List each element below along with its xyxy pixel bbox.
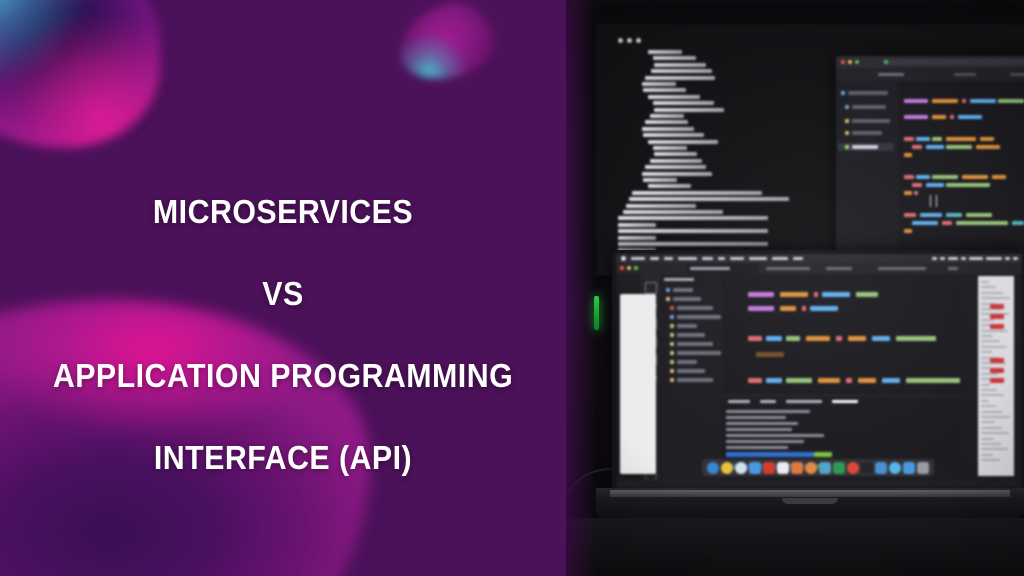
- code-token: [920, 213, 942, 217]
- minimap-line: [981, 297, 1010, 299]
- wifi-icon: [969, 257, 983, 260]
- terminal-output-line: [726, 416, 786, 419]
- file-type-icon: [670, 333, 674, 337]
- code-token: [962, 175, 988, 179]
- explorer-file-row[interactable]: [677, 342, 713, 346]
- trash-icon[interactable]: [917, 462, 929, 474]
- code-token: [748, 378, 762, 383]
- code-token: [806, 336, 830, 341]
- minimap-marker[interactable]: [990, 378, 1004, 383]
- code-token: [932, 115, 946, 119]
- explorer-file-row[interactable]: [677, 333, 705, 337]
- code-token: [780, 292, 808, 297]
- code-token: [748, 306, 774, 311]
- chrome-icon[interactable]: [889, 462, 901, 474]
- minimap-line: [981, 351, 992, 353]
- preview-icon[interactable]: [903, 462, 915, 474]
- menu-window[interactable]: [772, 257, 788, 260]
- vscode-statusbar[interactable]: [616, 480, 1022, 488]
- code-token: [748, 336, 762, 341]
- code-token: [766, 378, 782, 383]
- file-type-icon: [666, 288, 670, 292]
- file-type-icon: [670, 306, 674, 310]
- code-token: [916, 175, 930, 179]
- explorer-file-row[interactable]: [677, 378, 713, 382]
- messages-icon[interactable]: [791, 462, 803, 474]
- blob-top-left-icon: [0, 0, 160, 148]
- terminal-output-line: [726, 434, 824, 437]
- minimap-line: [981, 335, 993, 337]
- laptop-base: [596, 488, 1024, 518]
- file-type-icon: [670, 360, 674, 364]
- window-traffic-lights-icon[interactable]: [620, 266, 638, 270]
- menu-code[interactable]: [631, 257, 645, 260]
- terminal-line: [648, 50, 682, 54]
- code-token: [958, 115, 982, 119]
- page-title: MICROSERVICES VS APPLICATION PROGRAMMING…: [23, 150, 544, 519]
- menubar-status-items[interactable]: [932, 257, 1018, 260]
- menu-view[interactable]: [702, 257, 713, 260]
- code-token: [962, 99, 966, 103]
- terminal-selection: [726, 452, 814, 457]
- explorer-file-row[interactable]: [677, 351, 721, 355]
- code-token: [858, 378, 876, 383]
- file-type-icon: [670, 342, 674, 346]
- minimap-line: [981, 346, 1007, 348]
- menu-edit[interactable]: [664, 257, 673, 260]
- terminal-output-line: [726, 410, 810, 413]
- code-token: [916, 137, 930, 141]
- minimap-line: [981, 411, 1003, 413]
- minimap-line: [981, 400, 989, 402]
- code-token: [1012, 221, 1024, 225]
- code-token: [946, 137, 976, 141]
- headline-line-1: MICROSERVICES: [30, 191, 536, 232]
- code-token: [942, 221, 952, 225]
- terminal-line: [618, 236, 656, 240]
- vscode-icon[interactable]: [875, 462, 887, 474]
- code-token: [904, 115, 928, 119]
- terminal-line: [643, 178, 677, 182]
- code-token: [802, 306, 806, 311]
- code-token: [786, 336, 800, 341]
- vscode-tabbar[interactable]: [616, 263, 1022, 274]
- minimap-marker[interactable]: [990, 358, 1004, 363]
- menu-help[interactable]: [793, 257, 803, 260]
- terminal-line: [645, 120, 688, 124]
- explorer-file-row[interactable]: [677, 315, 721, 319]
- finder-icon[interactable]: [707, 462, 719, 474]
- code-token: [932, 175, 958, 179]
- terminal-line: [648, 140, 718, 144]
- minimap-line: [981, 292, 1003, 294]
- explorer-file-row[interactable]: [677, 369, 705, 373]
- code-token: [872, 336, 890, 341]
- terminal-success-text: [814, 452, 832, 457]
- vscode-explorer[interactable]: [660, 274, 722, 488]
- minimap-line: [981, 330, 1008, 332]
- panel-tab[interactable]: [760, 400, 776, 403]
- safari-icon[interactable]: [735, 462, 747, 474]
- code-token: [814, 292, 818, 297]
- terminal-line: [648, 184, 691, 188]
- adobe-icon[interactable]: [763, 462, 775, 474]
- explorer-file-row[interactable]: [677, 360, 697, 364]
- file-type-icon: [670, 324, 674, 328]
- code-token: [904, 137, 914, 141]
- code-token: [998, 99, 1024, 103]
- terminal-line: [645, 165, 706, 169]
- minimap-line: [981, 389, 997, 391]
- green-led-strip: [594, 296, 599, 330]
- status-icon-3: [948, 257, 958, 260]
- editor-file-explorer[interactable]: [836, 81, 898, 262]
- text-cursor-icon: [930, 195, 937, 207]
- code-token: [970, 99, 996, 103]
- minimap-line: [981, 416, 1010, 418]
- code-token: [976, 145, 1000, 149]
- terminal-line: [648, 95, 700, 99]
- external-monitor: [586, 8, 1024, 276]
- minimap-line: [981, 454, 993, 456]
- terminal-line: [618, 216, 768, 220]
- code-token: [882, 378, 900, 383]
- slide-canvas: MICROSERVICES VS APPLICATION PROGRAMMING…: [0, 0, 1024, 576]
- laptop: [596, 250, 1024, 576]
- code-token: [946, 145, 972, 149]
- terminal-line: [643, 133, 704, 137]
- terminal-line: [626, 204, 696, 208]
- explorer-file-row[interactable]: [673, 297, 701, 301]
- minimap-line: [981, 438, 994, 440]
- laptop-trackpad-notch: [782, 498, 838, 504]
- code-token: [756, 352, 784, 357]
- code-token: [904, 229, 912, 233]
- terminal-line: [650, 159, 702, 163]
- terminal-line: [618, 242, 768, 246]
- code-token: [914, 191, 918, 195]
- terminal-line: [653, 101, 714, 105]
- code-token: [896, 336, 936, 341]
- terminal-line: [651, 69, 712, 73]
- vscode-minimap[interactable]: [978, 276, 1014, 476]
- panel-tab[interactable]: [832, 400, 858, 403]
- keynote-icon[interactable]: [819, 462, 831, 474]
- terminal-line: [653, 146, 687, 150]
- code-token: [932, 137, 942, 141]
- monitor-terminal-window: [618, 38, 808, 268]
- control-center-icon: [1013, 257, 1018, 260]
- code-token: [904, 99, 928, 103]
- terminal-line: [642, 172, 712, 176]
- terminal-line: [645, 76, 715, 80]
- code-token: [818, 378, 840, 383]
- menu-terminal[interactable]: [749, 257, 767, 260]
- minimap-line: [981, 319, 994, 321]
- terminal-line: [653, 56, 696, 60]
- minimap-line: [981, 432, 1009, 434]
- minimap-line: [981, 427, 1002, 429]
- terminal-line: [654, 108, 724, 112]
- clock-text: [986, 257, 1002, 260]
- code-token: [912, 221, 938, 225]
- code-token: [848, 336, 866, 341]
- terminal-icon[interactable]: [861, 462, 873, 474]
- macos-menubar[interactable]: [616, 254, 1022, 263]
- terminal-line: [618, 229, 768, 233]
- headline-line-4: INTERFACE (API): [30, 437, 536, 478]
- monitor-editor-window: [836, 56, 1024, 262]
- vscode-editor-area[interactable]: [722, 274, 962, 396]
- code-token: [950, 115, 954, 119]
- minimap-line: [981, 394, 1004, 396]
- music-icon[interactable]: [847, 462, 859, 474]
- terminal-line: [643, 88, 686, 92]
- minimap-line: [981, 421, 995, 423]
- terminal-line: [650, 114, 684, 118]
- code-token: [856, 292, 878, 297]
- editor-titlebar: [836, 56, 1024, 68]
- terminal-traffic-lights-icon: [618, 38, 641, 43]
- minimap-line: [981, 281, 989, 283]
- editor-code-area[interactable]: [898, 81, 1024, 262]
- code-token: [912, 145, 922, 149]
- minimap-line: [981, 373, 998, 375]
- code-token: [926, 145, 944, 149]
- terminal-output-line: [726, 428, 792, 431]
- explorer-file-row[interactable]: [677, 324, 697, 328]
- file-type-icon: [670, 369, 674, 373]
- minimap-line: [981, 443, 1001, 445]
- code-token: [946, 183, 990, 187]
- status-icon-2: [940, 257, 945, 260]
- code-token: [904, 213, 916, 217]
- laptop-screen: [616, 254, 1022, 488]
- workspace-photo: [566, 0, 1024, 576]
- file-type-icon: [670, 378, 674, 382]
- menu-selection[interactable]: [678, 257, 697, 260]
- laptop-lid: [612, 250, 1024, 488]
- files-icon[interactable]: [645, 282, 657, 294]
- minimap-line: [981, 286, 996, 288]
- file-type-icon: [666, 297, 670, 301]
- panel-tab[interactable]: [728, 400, 750, 403]
- file-type-icon: [670, 315, 674, 319]
- code-token: [992, 175, 1006, 179]
- explorer-title: [664, 278, 694, 281]
- minimap-marker[interactable]: [990, 368, 1004, 373]
- menu-file[interactable]: [650, 257, 659, 260]
- monitor-screen: [596, 24, 1024, 276]
- terminal-output-line: [726, 440, 804, 443]
- code-token: [822, 292, 850, 297]
- desk-surface: [566, 518, 1024, 576]
- code-token: [836, 336, 842, 341]
- code-token: [748, 292, 774, 297]
- headline-line-3: APPLICATION PROGRAMMING: [30, 355, 536, 396]
- terminal-line: [623, 210, 723, 214]
- code-token: [904, 191, 912, 195]
- apple-logo-icon[interactable]: [621, 256, 626, 261]
- facetime-icon[interactable]: [805, 462, 817, 474]
- code-token: [956, 221, 1008, 225]
- code-token: [980, 137, 994, 141]
- left-purple-panel: MICROSERVICES VS APPLICATION PROGRAMMING…: [0, 0, 566, 576]
- editor-address-bar[interactable]: [882, 59, 1024, 65]
- minimap-marker[interactable]: [990, 314, 1004, 319]
- minimap-line: [981, 340, 1000, 342]
- code-token: [780, 306, 796, 311]
- code-token: [904, 153, 912, 157]
- minimap-line: [981, 405, 996, 407]
- terminal-line: [618, 223, 656, 227]
- minimap-marker[interactable]: [990, 304, 1004, 309]
- code-token: [906, 378, 960, 383]
- battery-icon: [961, 257, 966, 260]
- file-type-icon: [670, 351, 674, 355]
- minimap-line: [981, 384, 990, 386]
- code-token: [932, 99, 958, 103]
- headline-line-2: VS: [30, 273, 536, 314]
- minimap-line: [981, 459, 1000, 461]
- code-token: [846, 378, 852, 383]
- minimap-marker[interactable]: [990, 324, 1004, 329]
- code-token: [946, 213, 962, 217]
- editor-tabbar[interactable]: [836, 68, 1024, 81]
- photos-icon[interactable]: [777, 462, 789, 474]
- terminal-line: [629, 197, 789, 201]
- panel-tab[interactable]: [786, 400, 822, 403]
- code-token: [966, 213, 992, 217]
- terminal-output-line: [726, 422, 798, 425]
- secure-dot-icon: [884, 60, 888, 64]
- terminal-line: [642, 82, 676, 86]
- terminal-output-line: [726, 446, 788, 449]
- minimap-line: [981, 448, 1008, 450]
- code-token: [904, 175, 914, 179]
- status-icon-1: [932, 257, 937, 260]
- terminal-line: [654, 63, 706, 67]
- code-token: [912, 183, 922, 187]
- code-token: [766, 336, 782, 341]
- terminal-line: [642, 127, 694, 131]
- terminal-line: [632, 191, 762, 195]
- mail-icon[interactable]: [749, 462, 761, 474]
- search-icon: [1005, 257, 1010, 260]
- macos-dock[interactable]: [702, 459, 934, 476]
- excel-icon[interactable]: [833, 462, 845, 474]
- laptop-keyboard: [610, 490, 1010, 497]
- terminal-line: [654, 152, 697, 156]
- explorer-file-row[interactable]: [677, 306, 713, 310]
- menu-go[interactable]: [718, 257, 725, 260]
- launchpad-icon[interactable]: [721, 462, 733, 474]
- code-token: [926, 183, 944, 187]
- overlay-white-panel: [620, 294, 656, 474]
- code-token: [786, 378, 812, 383]
- menu-debug[interactable]: [730, 257, 744, 260]
- explorer-file-row[interactable]: [673, 288, 693, 292]
- code-token: [810, 306, 838, 311]
